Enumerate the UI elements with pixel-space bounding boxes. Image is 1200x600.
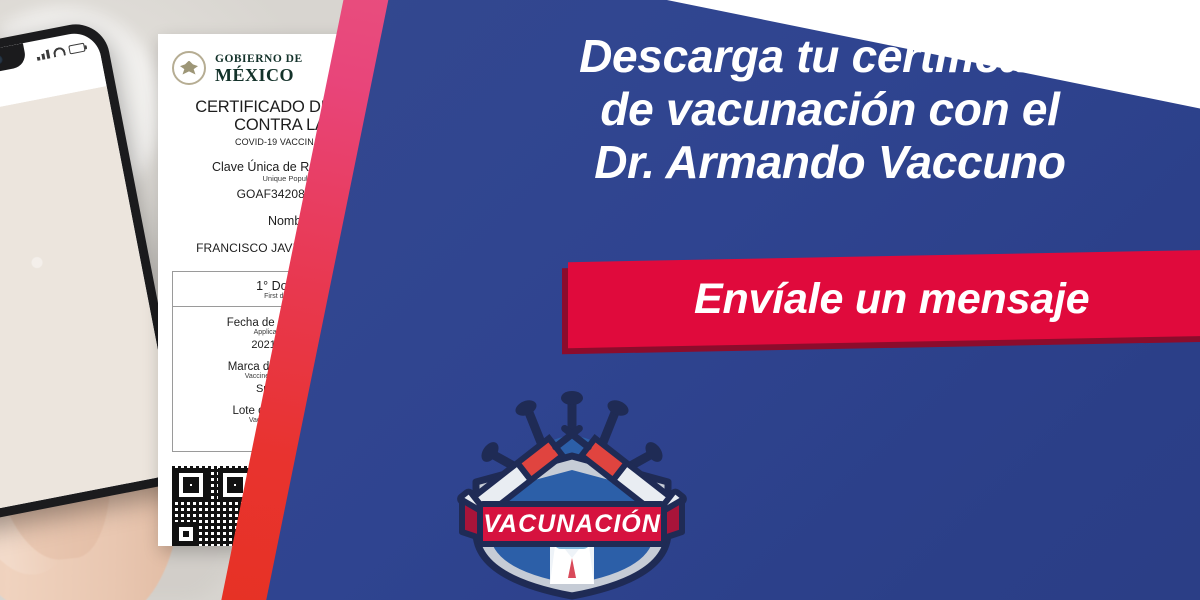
promotional-banner: ía de Salud una iente GOBIERNO DE MÉXICO	[0, 0, 1200, 600]
headline-line-2: de vacunación con el	[480, 83, 1180, 136]
headline-line-3: Dr. Armando Vaccuno	[480, 136, 1180, 189]
signal-bars-icon	[36, 49, 50, 60]
badge-ribbon: VACUNACIÓN	[462, 500, 682, 544]
mexico-eagle-seal-icon	[172, 51, 206, 85]
headline-line-1: Descarga tu certificado	[480, 30, 1180, 83]
battery-icon	[68, 42, 85, 54]
promo-headline: Descarga tu certificado de vacunación co…	[480, 30, 1180, 189]
gov-line1: GOBIERNO DE	[215, 53, 303, 65]
cta-banner[interactable]: Envíale un mensaje	[558, 252, 1200, 348]
gov-line2: MÉXICO	[215, 65, 294, 85]
cta-band[interactable]: Envíale un mensaje	[568, 250, 1200, 348]
badge-ribbon-label: VACUNACIÓN	[483, 509, 661, 538]
wifi-icon	[52, 46, 65, 57]
badge-svg: VACUNACIÓN	[452, 382, 692, 600]
cta-label: Envíale un mensaje	[694, 275, 1090, 324]
vaccination-badge-logo: VACUNACIÓN	[452, 382, 692, 600]
